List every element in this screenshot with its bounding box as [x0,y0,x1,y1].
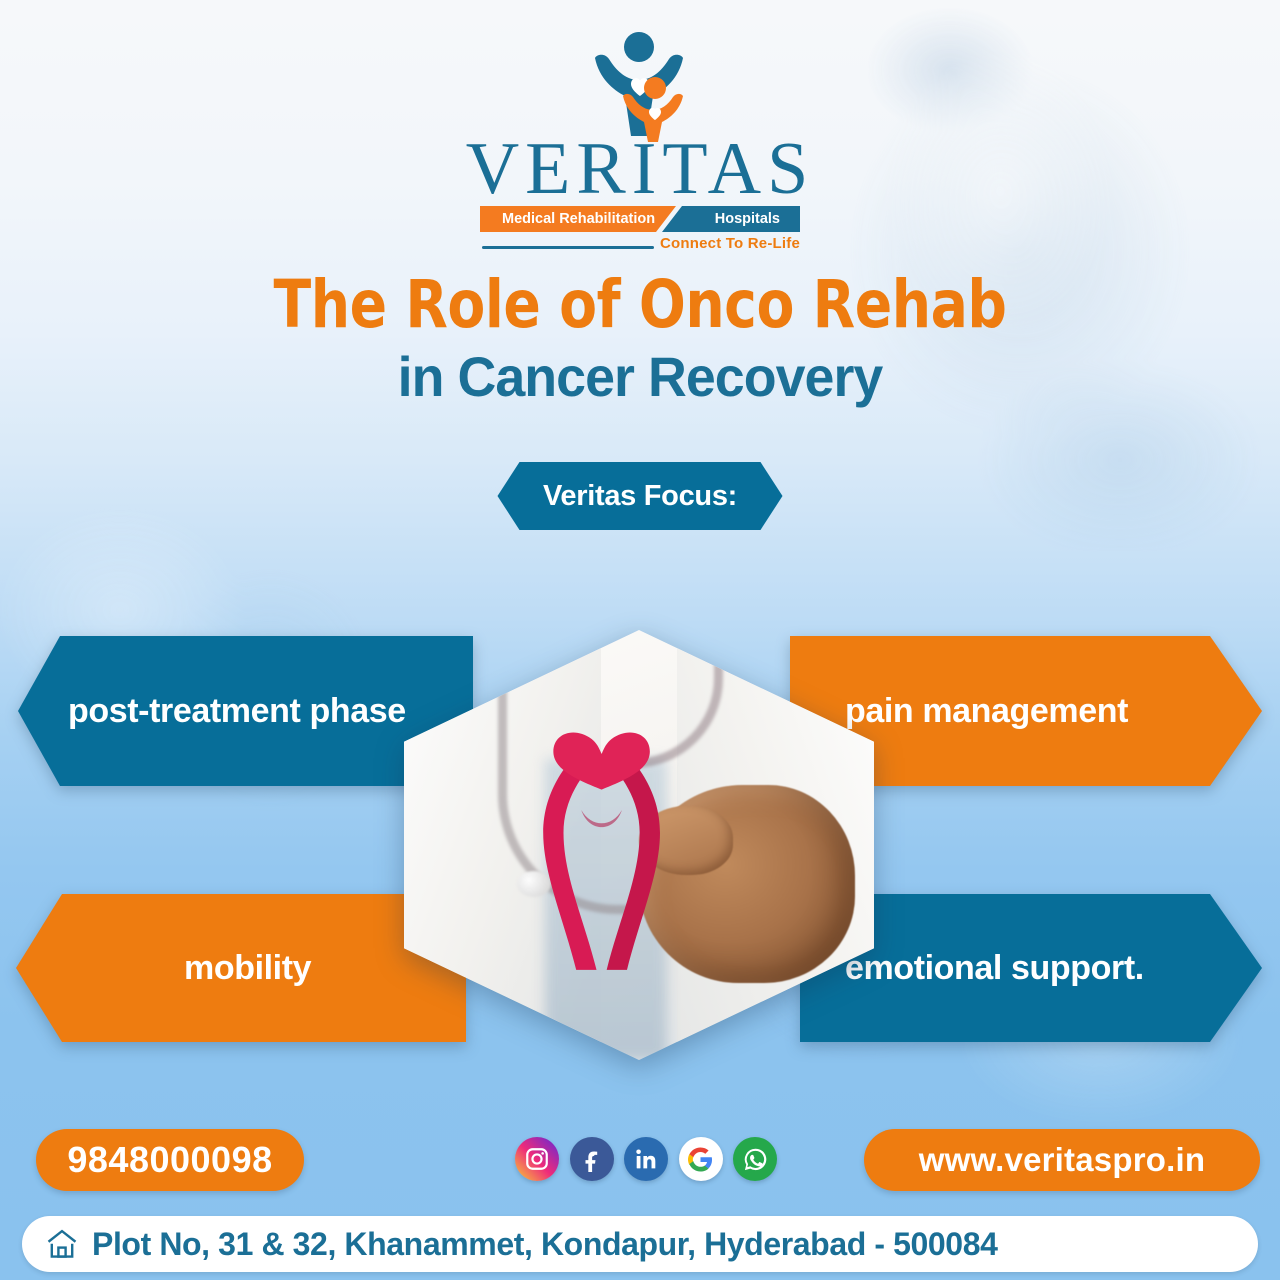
focus-banner: Veritas Focus: [498,462,783,530]
instagram-icon[interactable] [515,1137,559,1181]
brand-wordmark: VERITAS [466,138,815,202]
headline-line-2: in Cancer Recovery [26,346,1255,408]
home-icon [44,1226,80,1262]
banner-mobility: mobility [16,894,466,1042]
address-text: Plot No, 31 & 32, Khanammet, Kondapur, H… [92,1226,997,1263]
brand-tagline-bar: Medical Rehabilitation Hospitals [480,206,800,232]
cancer-awareness-ribbon-icon [517,716,686,983]
hexagon-clip [404,630,874,1060]
slogan-rule [482,246,654,249]
slogan-text: Connect To Re-Life [660,235,800,252]
brand-slogan-row: Connect To Re-Life [480,235,800,257]
website-url: www.veritaspro.in [919,1141,1205,1179]
social-links [515,1129,777,1189]
phone-number: 9848000098 [67,1139,272,1181]
headline-block: The Role of Onco Rehab in Cancer Recover… [0,272,1280,408]
google-icon[interactable] [679,1137,723,1181]
phone-button[interactable]: 9848000098 [36,1129,304,1191]
poster-canvas: VERITAS Medical Rehabilitation Hospitals… [0,0,1280,1280]
linkedin-icon[interactable] [624,1137,668,1181]
brand-logo: VERITAS Medical Rehabilitation Hospitals… [0,30,1280,257]
website-button[interactable]: www.veritaspro.in [864,1129,1260,1191]
headline-line-1: The Role of Onco Rehab [45,272,1235,338]
focus-banner-label: Veritas Focus: [498,462,783,530]
facebook-icon[interactable] [570,1137,614,1181]
banner-label: mobility [16,894,466,1042]
family-heart-logo-icon [587,30,693,142]
whatsapp-icon[interactable] [733,1137,777,1181]
address-bar: Plot No, 31 & 32, Khanammet, Kondapur, H… [22,1216,1258,1272]
tagline-left: Medical Rehabilitation [502,206,655,232]
center-hexagon-photo [404,630,874,1060]
tagline-right: Hospitals [715,206,780,232]
